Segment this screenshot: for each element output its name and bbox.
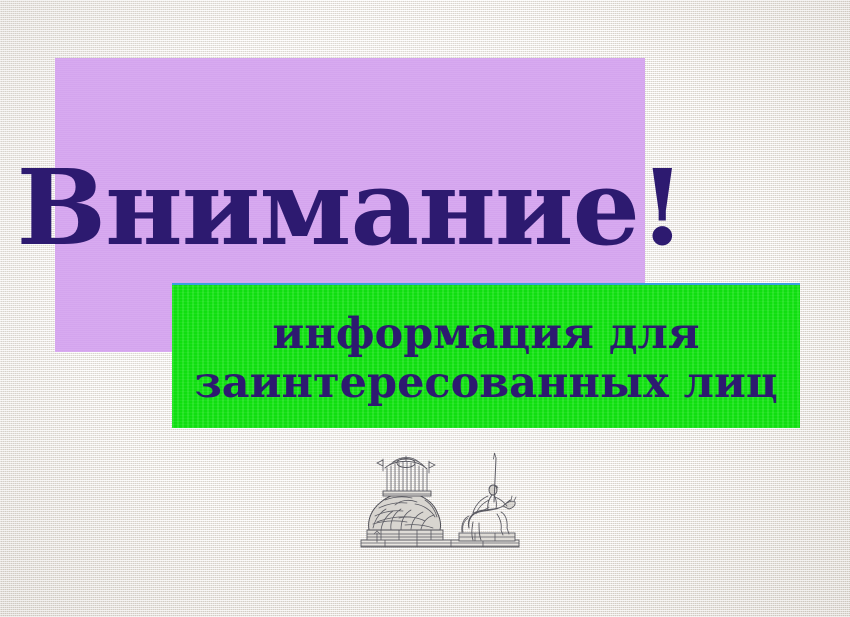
subtitle-line-2: заинтересованных лиц: [194, 361, 777, 406]
page-title: Внимание!: [16, 156, 684, 260]
monument-engraving-icon: [355, 450, 525, 555]
subtitle-banner: информация для заинтересованных лиц: [172, 283, 800, 428]
subtitle-line-1: информация для: [272, 312, 699, 357]
monument-engraving-svg: [355, 450, 525, 555]
slide-canvas: Внимание! информация для заинтересованны…: [0, 0, 850, 617]
